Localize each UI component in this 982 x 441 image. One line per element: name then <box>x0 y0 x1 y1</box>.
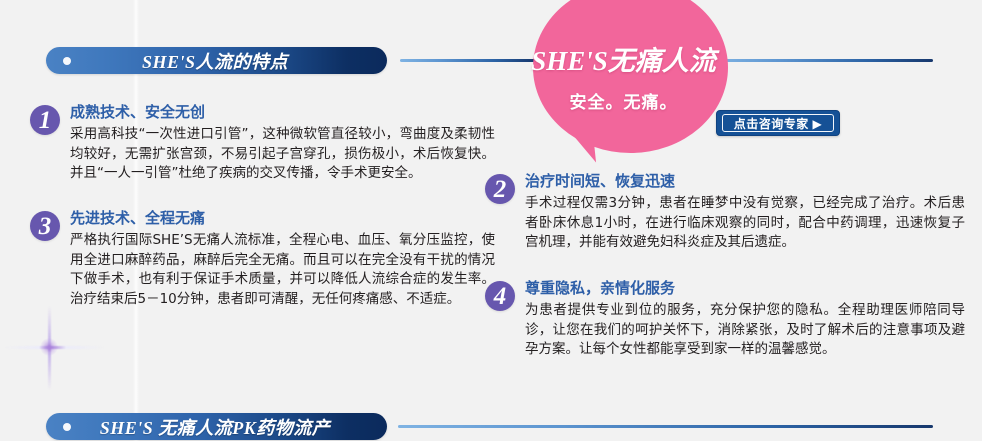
consult-expert-button-frame: 点击咨询专家 ▶ <box>722 114 834 132</box>
feature-block-4: 4 尊重隐私，亲情化服务 为患者提供专业到位的服务，充分保护您的隐私。全程助理医… <box>485 279 965 360</box>
feature-title-1: 成熟技术、安全无创 <box>70 103 495 123</box>
speech-bubble-headline: SHE'S无痛人流 <box>516 44 731 78</box>
feature-body-2: 治疗时间短、恢复迅速 手术过程仅需3分钟，患者在睡梦中没有觉察，已经完成了治疗。… <box>525 172 965 253</box>
feature-text-4: 为患者提供专业到位的服务，充分保护您的隐私。全程助理医师陪同导诊，让您在我们的呵… <box>525 301 965 360</box>
feature-text-2: 手术过程仅需3分钟，患者在睡梦中没有觉察，已经完成了治疗。术后患者卧床休息1小时… <box>525 194 965 253</box>
page-root: SHE'S人流的特点 SHE'S无痛人流 安全。无痛。 点击咨询专家 ▶ 1 成… <box>0 0 982 441</box>
section-banner-features-title: SHE'S人流的特点 <box>71 48 387 74</box>
feature-number-badge-2: 2 <box>485 174 515 204</box>
bullet-dot-icon <box>63 423 71 431</box>
feature-text-1: 采用高科技“一次性进口引管”，这种微软管直径较小，弯曲度及柔韧性均较好，无需扩张… <box>70 125 495 184</box>
consult-expert-button[interactable]: 点击咨询专家 ▶ <box>716 110 840 136</box>
sparkle-decoration <box>4 306 104 390</box>
feature-number-badge-3: 3 <box>30 211 60 241</box>
sparkle-core-glow <box>40 338 58 356</box>
section-banner-features: SHE'S人流的特点 <box>46 47 387 74</box>
feature-block-1: 1 成熟技术、安全无创 采用高科技“一次性进口引管”，这种微软管直径较小，弯曲度… <box>30 103 495 184</box>
feature-body-4: 尊重隐私，亲情化服务 为患者提供专业到位的服务，充分保护您的隐私。全程助理医师陪… <box>525 279 965 360</box>
bullet-dot-icon <box>63 57 71 65</box>
consult-expert-button-label: 点击咨询专家 ▶ <box>734 115 823 132</box>
feature-body-3: 先进技术、全程无痛 严格执行国际SHE’S无痛人流标准，全程心电、血压、氧分压监… <box>70 209 495 309</box>
feature-number-badge-1: 1 <box>30 105 60 135</box>
feature-number-badge-4: 4 <box>485 281 515 311</box>
feature-title-4: 尊重隐私，亲情化服务 <box>525 279 965 299</box>
sparkle-horizontal-ray <box>4 346 104 349</box>
section-banner-comparison-title: SHE'S 无痛人流PK药物流产 <box>71 414 387 440</box>
feature-block-3: 3 先进技术、全程无痛 严格执行国际SHE’S无痛人流标准，全程心电、血压、氧分… <box>30 209 495 309</box>
feature-title-2: 治疗时间短、恢复迅速 <box>525 172 965 192</box>
speech-bubble-subline: 安全。无痛。 <box>516 88 731 118</box>
divider-rule-bottom <box>398 425 933 428</box>
speech-bubble-text: SHE'S无痛人流 安全。无痛。 <box>516 44 731 118</box>
feature-title-3: 先进技术、全程无痛 <box>70 209 495 229</box>
feature-block-2: 2 治疗时间短、恢复迅速 手术过程仅需3分钟，患者在睡梦中没有觉察，已经完成了治… <box>485 172 965 253</box>
section-banner-comparison: SHE'S 无痛人流PK药物流产 <box>46 413 387 440</box>
feature-text-3: 严格执行国际SHE’S无痛人流标准，全程心电、血压、氧分压监控，使用全进口麻醉药… <box>70 231 495 309</box>
sparkle-vertical-ray <box>48 306 51 390</box>
divider-rule-top-left <box>400 59 535 62</box>
divider-rule-top-right <box>715 59 933 62</box>
feature-body-1: 成熟技术、安全无创 采用高科技“一次性进口引管”，这种微软管直径较小，弯曲度及柔… <box>70 103 495 184</box>
